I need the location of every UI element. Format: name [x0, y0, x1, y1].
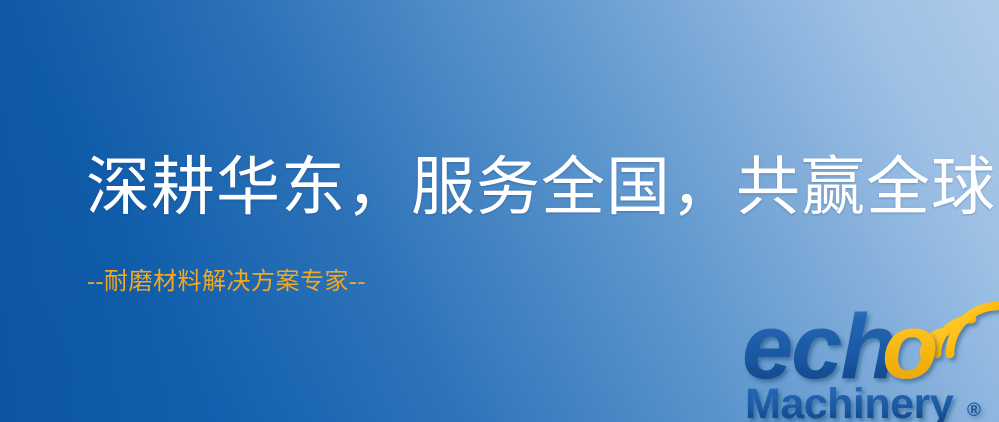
logo-machinery-text: Machinery — [745, 380, 954, 422]
logo-subbrand: Machinery ® — [745, 380, 981, 422]
banner-subtitle: --耐磨材料解决方案专家-- — [87, 266, 366, 298]
logo-trademark-symbol: ® — [967, 400, 981, 421]
echo-machinery-logo: ech o Machinery ® — [742, 292, 999, 422]
banner-headline: 深耕华东，服务全国，共赢全球 — [86, 147, 996, 229]
promotional-banner: 深耕华东，服务全国，共赢全球 --耐磨材料解决方案专家-- — [0, 0, 999, 422]
